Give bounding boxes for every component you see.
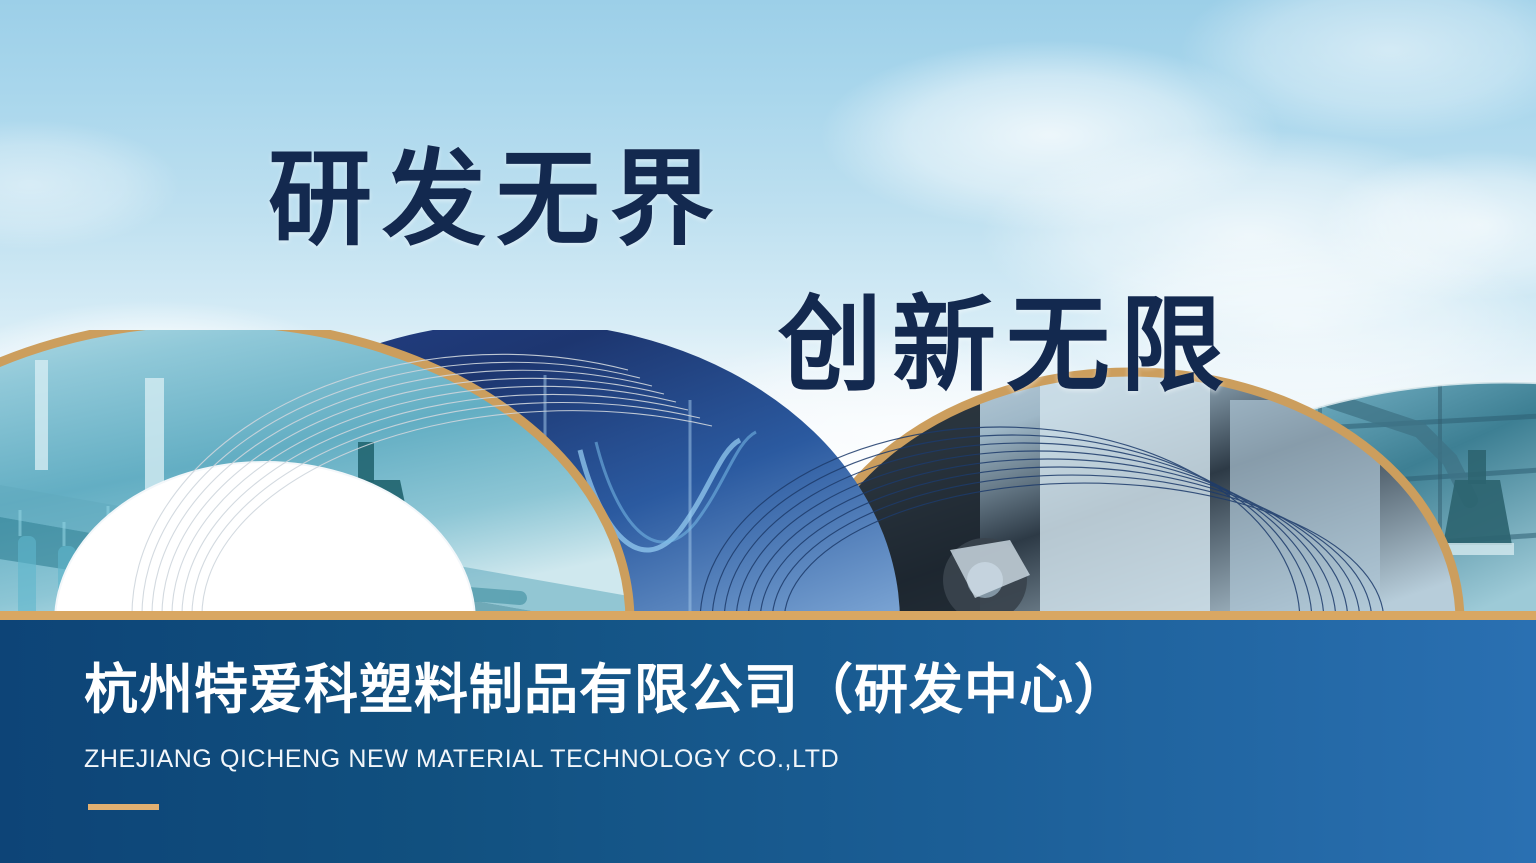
headline-line-2: 创新无限 — [778, 294, 1234, 398]
company-banner: 杭州特爱科塑料制品有限公司（研发中心） ZHEJIANG QICHENG NEW… — [0, 620, 1536, 863]
headline-block: 研发无界 创新无限 — [0, 0, 1536, 622]
company-name-en: ZHEJIANG QICHENG NEW MATERIAL TECHNOLOGY… — [84, 747, 839, 772]
title-slide: 研发无界 创新无限 杭州特爱科塑料制品有限公司（研发中心） ZHEJIANG Q… — [0, 0, 1536, 863]
banner-accent-bar — [88, 804, 159, 810]
company-name-cn: 杭州特爱科塑料制品有限公司（研发中心） — [84, 663, 1129, 717]
headline-line-1: 研发无界 — [268, 148, 724, 252]
gold-divider-rule — [0, 611, 1536, 620]
